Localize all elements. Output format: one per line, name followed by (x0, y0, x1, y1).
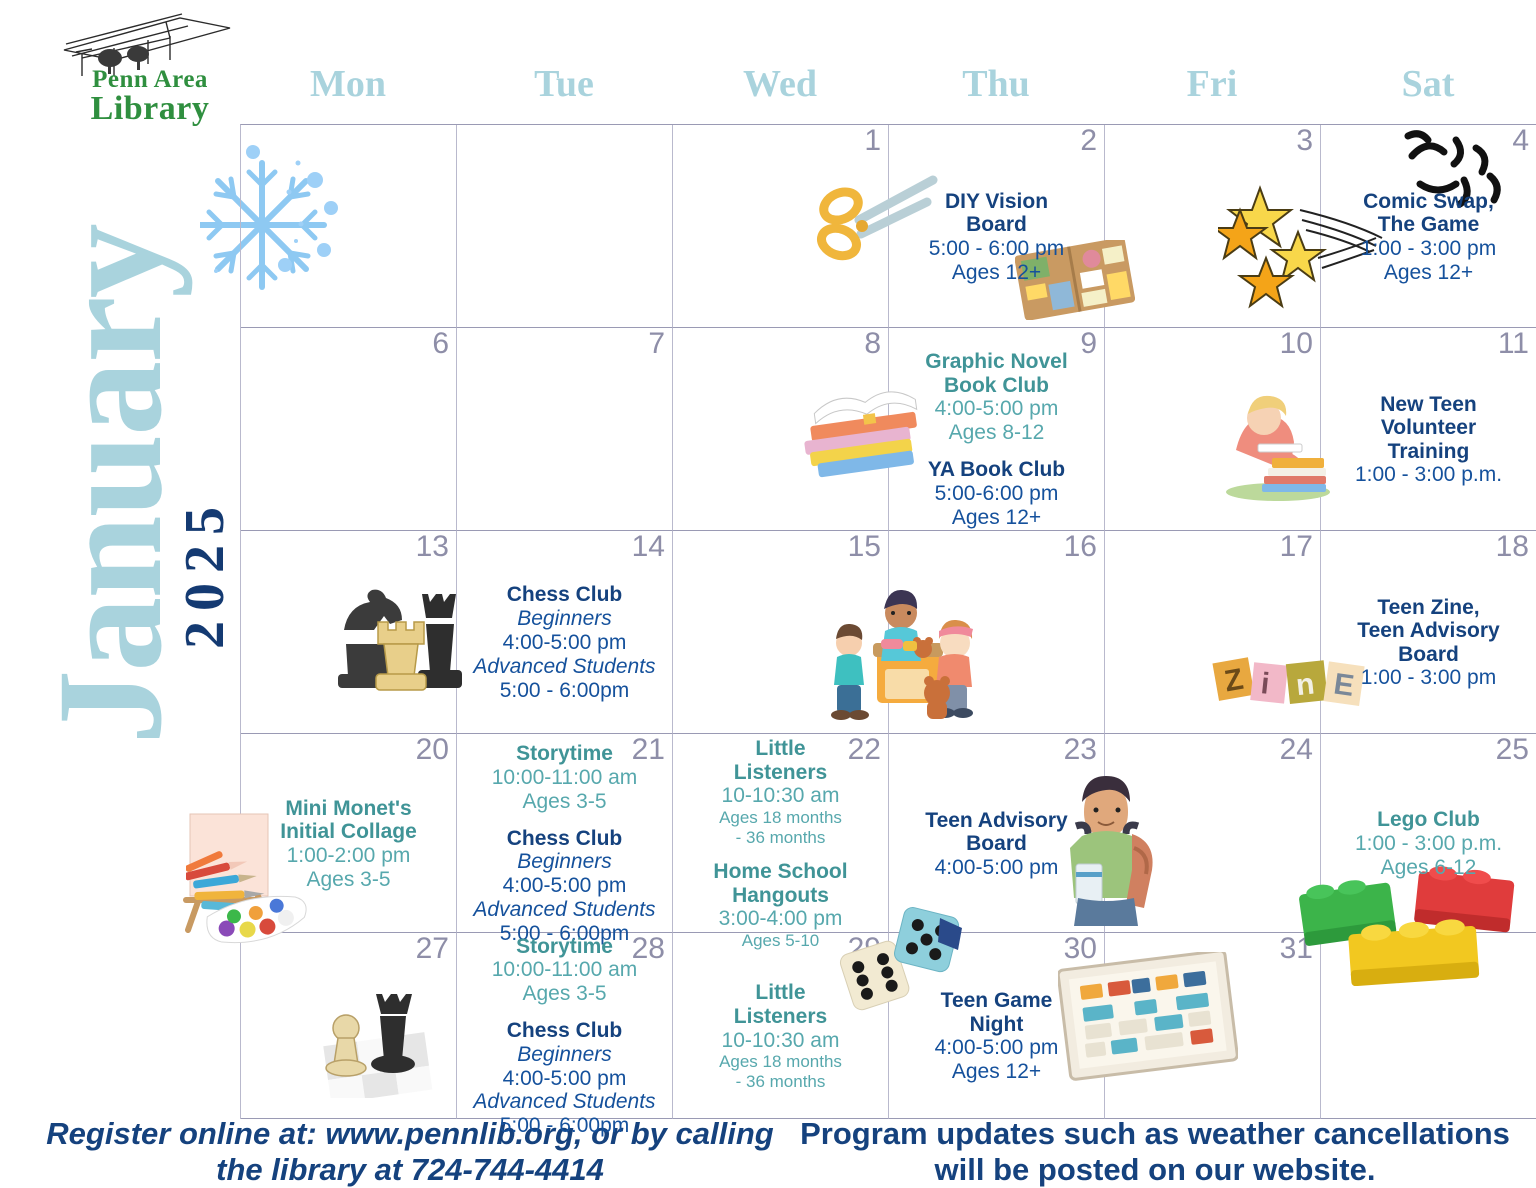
event-detail: 4:00-5:00 pm (925, 397, 1067, 421)
calendar-day-7: 7 (457, 328, 673, 531)
weekday-wed: Wed (672, 62, 888, 122)
event-detail: 4:00-5:00 pm (473, 1067, 655, 1091)
event-detail: Beginners (473, 607, 655, 631)
event-title: Mini Monet's (280, 797, 417, 821)
day-events: Storytime10:00-11:00 amAges 3-5Chess Clu… (457, 959, 672, 1114)
event-item[interactable]: Chess ClubBeginners4:00-5:00 pmAdvanced … (473, 1019, 655, 1138)
event-item[interactable]: Chess ClubBeginners4:00-5:00 pmAdvanced … (473, 583, 655, 702)
day-events: Teen Zine,Teen AdvisoryBoard1:00 - 3:00 … (1321, 557, 1536, 729)
event-item[interactable]: Teen AdvisoryBoard4:00-5:00 pm (925, 809, 1067, 880)
event-detail: - 36 months (719, 1072, 842, 1092)
event-detail: Ages 6-12 (1355, 856, 1502, 880)
event-detail: Ages 3-5 (280, 868, 417, 892)
calendar-day-empty (1321, 933, 1536, 1119)
event-detail: Advanced Students (473, 655, 655, 679)
event-item[interactable]: DIY VisionBoard5:00 - 6:00 pmAges 12+ (929, 190, 1064, 285)
day-number: 27 (416, 933, 449, 965)
calendar-day-15: 15 (673, 531, 889, 734)
event-item[interactable]: Mini Monet'sInitial Collage1:00-2:00 pmA… (280, 797, 417, 892)
weekday-mon: Mon (240, 62, 456, 122)
library-logo: Penn Area Library (52, 8, 242, 126)
event-title: Board (1357, 643, 1499, 667)
event-detail: 4:00-5:00 pm (925, 856, 1067, 880)
day-events: Chess ClubBeginners4:00-5:00 pmAdvanced … (457, 557, 672, 729)
footer-register-text: Register online at: www.pennlib.org, or … (40, 1116, 780, 1188)
event-detail: 4:00-5:00 pm (473, 874, 655, 898)
day-events: Teen AdvisoryBoard4:00-5:00 pm (889, 760, 1104, 928)
event-title: Night (935, 1013, 1059, 1037)
event-detail: Ages 5-10 (713, 931, 847, 951)
event-title: Lego Club (1355, 808, 1502, 832)
calendar-day-25: 25Lego Club1:00 - 3:00 p.m.Ages 6-12 (1321, 734, 1536, 933)
event-detail: Beginners (473, 850, 655, 874)
calendar-day-21: 21Storytime10:00-11:00 amAges 3-5Chess C… (457, 734, 673, 933)
calendar-day-16: 16 (889, 531, 1105, 734)
event-item[interactable]: Storytime10:00-11:00 amAges 3-5 (492, 935, 638, 1006)
calendar-day-31: 31 (1105, 933, 1321, 1119)
event-item[interactable]: Teen Zine,Teen AdvisoryBoard1:00 - 3:00 … (1357, 596, 1499, 690)
event-detail: 5:00 - 6:00pm (473, 1114, 655, 1138)
event-detail: 5:00 - 6:00 pm (929, 237, 1064, 261)
event-detail: Ages 3-5 (492, 790, 638, 814)
calendar-day-17: 17 (1105, 531, 1321, 734)
event-title: Board (925, 832, 1067, 856)
event-item[interactable]: Comic Swap,The Game1:00 - 3:00 pmAges 12… (1361, 190, 1496, 285)
calendar-day-22: 22LittleListeners10-10:30 amAges 18 mont… (673, 734, 889, 933)
event-title: Teen Zine, (1357, 596, 1499, 620)
event-title: YA Book Club (928, 458, 1065, 482)
weekday-header-row: Mon Tue Wed Thu Fri Sat (240, 62, 1536, 122)
event-detail: 1:00 - 3:00 p.m. (1355, 832, 1502, 856)
event-detail: Ages 12+ (1361, 261, 1496, 285)
event-title: Chess Club (473, 1019, 655, 1043)
event-title: Teen Advisory (1357, 619, 1499, 643)
event-title: Little (719, 981, 842, 1005)
event-title: The Game (1361, 213, 1496, 237)
calendar-day-30: 30Teen GameNight4:00-5:00 pmAges 12+ (889, 933, 1105, 1119)
calendar-day-11: 11New TeenVolunteerTraining1:00 - 3:00 p… (1321, 328, 1536, 531)
event-detail: Advanced Students (473, 1090, 655, 1114)
footer: Register online at: www.pennlib.org, or … (0, 1113, 1536, 1187)
day-events: LittleListeners10-10:30 amAges 18 months… (673, 959, 888, 1114)
event-detail: 1:00 - 3:00 p.m. (1355, 463, 1502, 487)
calendar-day-24: 24 (1105, 734, 1321, 933)
footer-updates-text: Program updates such as weather cancella… (790, 1116, 1520, 1188)
calendar-day-empty (457, 125, 673, 328)
day-events: DIY VisionBoard5:00 - 6:00 pmAges 12+ (889, 151, 1104, 323)
event-detail: Ages 12+ (928, 506, 1065, 530)
calendar-day-14: 14Chess ClubBeginners4:00-5:00 pmAdvance… (457, 531, 673, 734)
event-item[interactable]: Storytime10:00-11:00 amAges 3-5 (492, 742, 638, 813)
event-detail: Beginners (473, 1043, 655, 1067)
event-detail: 10-10:30 am (719, 784, 842, 808)
weekday-fri: Fri (1104, 62, 1320, 122)
weekday-sat: Sat (1320, 62, 1536, 122)
event-detail: - 36 months (719, 828, 842, 848)
event-detail: Advanced Students (473, 898, 655, 922)
event-title: Volunteer (1355, 416, 1502, 440)
event-title: Board (929, 213, 1064, 237)
event-detail: 4:00-5:00 pm (935, 1036, 1059, 1060)
calendar-day-empty (241, 125, 457, 328)
calendar-day-1: 1 (673, 125, 889, 328)
event-item[interactable]: New TeenVolunteerTraining1:00 - 3:00 p.m… (1355, 393, 1502, 487)
event-detail: 1:00 - 3:00 pm (1361, 237, 1496, 261)
day-number: 3 (1296, 125, 1313, 157)
event-item[interactable]: Chess ClubBeginners4:00-5:00 pmAdvanced … (473, 827, 655, 946)
event-detail: Ages 12+ (935, 1060, 1059, 1084)
event-title: Comic Swap, (1361, 190, 1496, 214)
event-item[interactable]: LittleListeners10-10:30 amAges 18 months… (719, 981, 842, 1091)
day-events: Comic Swap,The Game1:00 - 3:00 pmAges 12… (1321, 151, 1536, 323)
calendar-day-27: 27 (241, 933, 457, 1119)
day-number: 13 (416, 531, 449, 563)
calendar-day-3: 3 (1105, 125, 1321, 328)
calendar-grid: 12DIY VisionBoard5:00 - 6:00 pmAges 12+3… (240, 124, 1536, 1119)
day-events: Teen GameNight4:00-5:00 pmAges 12+ (889, 959, 1104, 1114)
day-number: 24 (1280, 734, 1313, 766)
day-number: 6 (432, 328, 449, 360)
day-number: 17 (1280, 531, 1313, 563)
event-title: Hangouts (713, 884, 847, 908)
event-title: DIY Vision (929, 190, 1064, 214)
event-item[interactable]: Graphic NovelBook Club4:00-5:00 pmAges 8… (925, 350, 1067, 445)
calendar-day-2: 2DIY VisionBoard5:00 - 6:00 pmAges 12+ (889, 125, 1105, 328)
event-title: Listeners (719, 1005, 842, 1029)
day-number: 31 (1280, 933, 1313, 965)
event-title: Storytime (492, 935, 638, 959)
event-item[interactable]: YA Book Club5:00-6:00 pmAges 12+ (928, 458, 1065, 529)
day-events: Mini Monet'sInitial Collage1:00-2:00 pmA… (241, 760, 456, 928)
event-title: Teen Game (935, 989, 1059, 1013)
event-detail: Ages 18 months (719, 808, 842, 828)
event-title: Storytime (492, 742, 638, 766)
logo-text-line2: Library (60, 90, 240, 128)
calendar-day-23: 23Teen AdvisoryBoard4:00-5:00 pm (889, 734, 1105, 933)
event-title: Graphic Novel (925, 350, 1067, 374)
event-detail: 10-10:30 am (719, 1029, 842, 1053)
event-title: Home School (713, 860, 847, 884)
event-item[interactable]: Lego Club1:00 - 3:00 p.m.Ages 6-12 (1355, 808, 1502, 879)
event-item[interactable]: Teen GameNight4:00-5:00 pmAges 12+ (935, 989, 1059, 1084)
event-item[interactable]: LittleListeners10-10:30 amAges 18 months… (719, 737, 842, 847)
day-number: 8 (864, 328, 881, 360)
day-events: Graphic NovelBook Club4:00-5:00 pmAges 8… (889, 354, 1104, 526)
day-events: Storytime10:00-11:00 amAges 3-5Chess Clu… (457, 760, 672, 928)
day-number: 7 (648, 328, 665, 360)
day-number: 16 (1064, 531, 1097, 563)
calendar-day-4: 4Comic Swap,The Game1:00 - 3:00 pmAges 1… (1321, 125, 1536, 328)
event-detail: 5:00-6:00 pm (928, 482, 1065, 506)
event-detail: 10:00-11:00 am (492, 766, 638, 790)
day-events: New TeenVolunteerTraining1:00 - 3:00 p.m… (1321, 354, 1536, 526)
event-title: Training (1355, 440, 1502, 464)
day-number: 10 (1280, 328, 1313, 360)
day-number: 1 (864, 125, 881, 157)
calendar-day-6: 6 (241, 328, 457, 531)
event-detail: 10:00-11:00 am (492, 958, 638, 982)
event-title: Book Club (925, 374, 1067, 398)
calendar-day-20: 20Mini Monet'sInitial Collage1:00-2:00 p… (241, 734, 457, 933)
event-title: Chess Club (473, 827, 655, 851)
event-item[interactable]: Home SchoolHangouts3:00-4:00 pmAges 5-10 (713, 860, 847, 951)
event-detail: 1:00-2:00 pm (280, 844, 417, 868)
event-title: Little (719, 737, 842, 761)
calendar-day-28: 28Storytime10:00-11:00 amAges 3-5Chess C… (457, 933, 673, 1119)
calendar-day-10: 10 (1105, 328, 1321, 531)
year-title: 2025 (177, 473, 233, 673)
calendar-day-8: 8 (673, 328, 889, 531)
event-detail: Ages 18 months (719, 1052, 842, 1072)
day-number: 15 (848, 531, 881, 563)
month-title: January (35, 135, 185, 835)
event-detail: Ages 12+ (929, 261, 1064, 285)
day-events: LittleListeners10-10:30 amAges 18 months… (673, 760, 888, 928)
event-detail: Ages 3-5 (492, 982, 638, 1006)
calendar-day-18: 18Teen Zine,Teen AdvisoryBoard1:00 - 3:0… (1321, 531, 1536, 734)
event-detail: 3:00-4:00 pm (713, 907, 847, 931)
calendar-day-9: 9Graphic NovelBook Club4:00-5:00 pmAges … (889, 328, 1105, 531)
event-title: New Teen (1355, 393, 1502, 417)
event-detail: 1:00 - 3:00 pm (1357, 666, 1499, 690)
event-title: Teen Advisory (925, 809, 1067, 833)
weekday-thu: Thu (888, 62, 1104, 122)
event-detail: 5:00 - 6:00pm (473, 679, 655, 703)
weekday-tue: Tue (456, 62, 672, 122)
event-title: Initial Collage (280, 820, 417, 844)
calendar-day-13: 13 (241, 531, 457, 734)
calendar-day-29: 29LittleListeners10-10:30 amAges 18 mont… (673, 933, 889, 1119)
event-title: Listeners (719, 761, 842, 785)
event-title: Chess Club (473, 583, 655, 607)
event-detail: Ages 8-12 (925, 421, 1067, 445)
event-detail: 4:00-5:00 pm (473, 631, 655, 655)
day-events: Lego Club1:00 - 3:00 p.m.Ages 6-12 (1321, 760, 1536, 928)
